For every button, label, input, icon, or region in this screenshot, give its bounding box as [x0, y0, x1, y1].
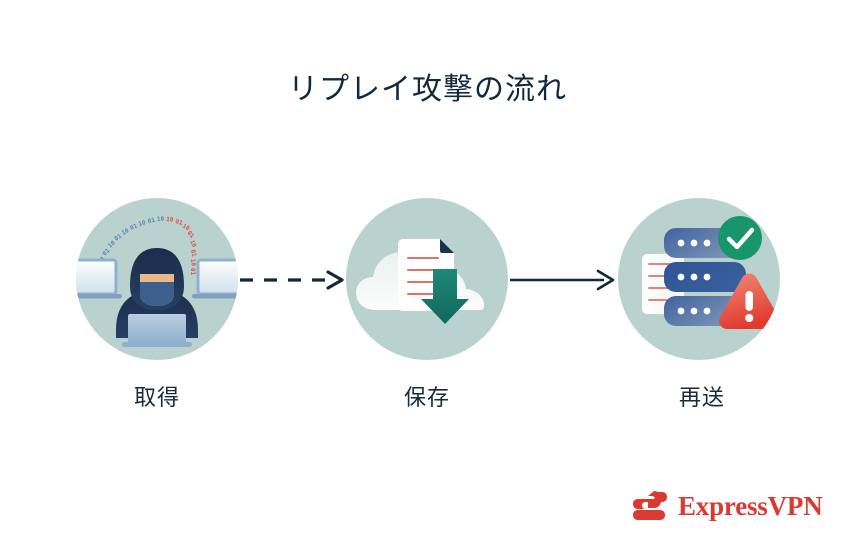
flow-step-capture: 10 01 00 11 01 10 01 10 01 10 01 10	[76, 198, 238, 360]
process-flow: 10 01 00 11 01 10 01 10 01 10 01 10	[0, 198, 855, 363]
solid-arrow	[508, 260, 618, 300]
hacker-intercepting-laptops-icon: 10 01 00 11 01 10 01 10 01 10 01 10	[76, 198, 238, 360]
expressvpn-wordmark: ExpressVPN	[678, 491, 823, 521]
server-layer-middle	[664, 262, 746, 292]
cloud-document-download-icon	[346, 198, 508, 360]
flow-step-store	[346, 198, 508, 360]
svg-text:01: 01	[189, 249, 197, 258]
expressvpn-logo: ExpressVPN	[632, 486, 823, 526]
svg-text:01: 01	[189, 268, 196, 276]
step-label-resend: 再送	[612, 382, 792, 414]
svg-text:10: 10	[188, 239, 197, 249]
step-labels: 取得 保存 再送	[0, 382, 855, 422]
step-label-store: 保存	[337, 382, 517, 414]
server-replay-warning-icon	[618, 198, 780, 360]
flow-step-resend	[618, 198, 780, 360]
page-title: リプレイ攻撃の流れ	[0, 68, 855, 112]
svg-text:10: 10	[121, 227, 131, 237]
step-label-capture: 取得	[67, 382, 247, 414]
svg-text:10: 10	[166, 216, 174, 224]
check-circle-icon	[718, 216, 762, 260]
svg-text:01: 01	[129, 223, 139, 232]
diagram-canvas: リプレイ攻撃の流れ	[0, 0, 855, 560]
expressvpn-e-mark	[632, 489, 668, 523]
svg-text:10: 10	[189, 259, 197, 267]
hacker-figure	[116, 248, 198, 347]
svg-text:01: 01	[147, 217, 156, 225]
laptop-left	[56, 260, 122, 299]
svg-text:10: 10	[138, 219, 147, 228]
dashed-arrow	[238, 260, 348, 300]
svg-text:10: 10	[157, 216, 165, 223]
